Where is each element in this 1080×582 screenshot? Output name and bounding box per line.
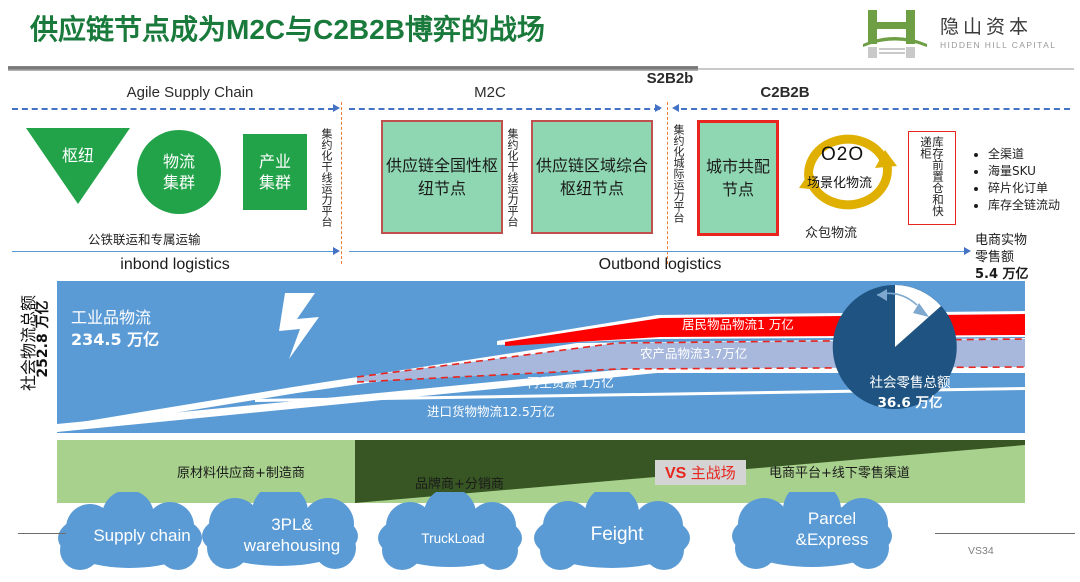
cloud-label-3pl-line-1: 3PL& — [222, 514, 362, 535]
hidden-hill-h-icon — [862, 8, 928, 60]
cloud-label-freight: Feight — [562, 524, 672, 545]
vs-main-battlefield-badge: VS 主战场 — [655, 460, 746, 485]
vs-text: 主战场 — [691, 464, 736, 482]
footer-rule-left — [18, 533, 66, 534]
cloud-label-parcel: Parcel &Express — [762, 508, 902, 550]
timeline-arrow-c2b2b-left — [672, 104, 679, 112]
axis-label-line-2: 252.8 万亿 — [32, 264, 52, 414]
pie-label-line-2: 36.6 万亿 — [840, 393, 980, 413]
chart-y-axis-label: 社会物流总额 252.8 万亿 — [2, 281, 50, 433]
inbound-flow-arrow — [333, 247, 340, 255]
phase-divider-2 — [667, 102, 668, 264]
cloud-label-3pl: 3PL& warehousing — [222, 514, 362, 556]
node-national-hub[interactable]: 供应链全国性枢纽节点 — [381, 120, 503, 234]
logistics-cluster-label-2: 集群 — [163, 172, 195, 193]
node-city-joint-distribution[interactable]: 城市共配节点 — [697, 120, 779, 236]
inbound-flow-label: inbond logistics — [50, 256, 300, 274]
phase-label-agile-supply-chain: Agile Supply Chain — [40, 84, 340, 101]
inventory-forward-label: 库存前置仓和快递柜 — [920, 136, 944, 220]
inventory-forward-box[interactable]: 库存前置仓和快递柜 — [908, 131, 956, 225]
phase-label-m2c: M2C — [390, 84, 590, 101]
logistics-volume-chart: 工业品物流 234.5 万亿 居民物品物流1 万亿 农产品物流3.7万亿 再生资… — [57, 281, 1025, 433]
pie-label-line-1: 社会零售总额 — [840, 373, 980, 393]
timeline-seg-m2c — [349, 108, 660, 110]
timeline-arrow-m2c — [655, 104, 662, 112]
outbound-flow-line — [349, 251, 966, 252]
tier-label-right: 电商平台+线下零售渠道 — [769, 462, 910, 481]
pie-label: 社会零售总额 36.6 万亿 — [840, 373, 980, 413]
hub-triangle-label: 枢纽 — [26, 142, 130, 166]
cloud-label-supply-chain: Supply chain — [82, 525, 202, 546]
series-label-industrial: 工业品物流 234.5 万亿 — [71, 307, 159, 351]
series-label-recycled-resources: 再生资源 1万亿 — [527, 372, 614, 391]
bullet-fragmented-orders: 碎片化订单 — [988, 180, 1080, 197]
outbound-flow-arrow — [964, 247, 971, 255]
connector-intercity-platform: 集约化城际运力平台 — [672, 124, 684, 246]
node-regional-hub-label: 供应链区域综合枢纽节点 — [533, 154, 651, 200]
o2o-sub-label: 场景化物流 — [807, 172, 872, 191]
timeline-seg-c2b2b — [681, 108, 1070, 110]
logo-name-cn: 隐山资本 — [940, 12, 1032, 39]
o2o-circular-arrows-icon — [793, 128, 903, 214]
page-title: 供应链节点成为M2C与C2B2B博弈的战场 — [30, 8, 750, 52]
tier-label-left: 原材料供应商+制造商 — [177, 462, 305, 481]
timeline-seg-agile — [12, 108, 334, 110]
timeline-arrow-agile — [333, 104, 340, 112]
industry-cluster-square: 产业 集群 — [243, 134, 307, 210]
ecommerce-retail-endcap: 电商实物 零售额 5.4 万亿 — [975, 232, 1075, 283]
bullet-full-chain-inventory: 库存全链流动 — [988, 197, 1080, 214]
bullet-massive-sku: 海量SKU — [988, 163, 1080, 180]
node-city-joint-distribution-label: 城市共配节点 — [700, 155, 776, 201]
feature-bullet-list: 全渠道 海量SKU 碎片化订单 库存全链流动 — [974, 146, 1080, 214]
phase-label-s2b2b: S2B2b — [625, 70, 715, 87]
node-regional-hub[interactable]: 供应链区域综合枢纽节点 — [531, 120, 653, 234]
vs-prefix: VS — [665, 465, 686, 482]
cloud-label-3pl-line-2: warehousing — [222, 535, 362, 556]
connector-trunk-platform-2: 集约化干线运力平台 — [506, 128, 518, 246]
o2o-below-label: 众包物流 — [805, 222, 857, 241]
inbound-flow-line — [12, 251, 334, 252]
logo-name-en: HIDDEN HILL CAPITAL — [940, 40, 1056, 50]
triangle-icon — [26, 128, 130, 204]
series-label-agricultural: 农产品物流3.7万亿 — [640, 343, 747, 362]
series-industrial-line-1: 工业品物流 — [71, 307, 159, 329]
o2o-cycle: O2O 场景化物流 — [793, 128, 903, 214]
header-divider — [8, 66, 698, 71]
industry-cluster-label-1: 产业 — [259, 151, 291, 172]
series-industrial-line-2: 234.5 万亿 — [71, 329, 159, 351]
logistics-cluster-circle: 物流 集群 — [137, 130, 221, 214]
hub-triangle-shape: 枢纽 — [26, 128, 130, 204]
logistics-cluster-label-1: 物流 — [163, 151, 195, 172]
phase-divider-1 — [341, 102, 342, 264]
endcap-line-2: 零售额 — [975, 249, 1075, 266]
series-label-resident-goods: 居民物品物流1 万亿 — [682, 314, 794, 333]
cloud-label-parcel-line-1: Parcel — [762, 508, 902, 529]
footer-rule-right — [935, 533, 1075, 534]
tier-label-middle: 品牌商+分销商 — [415, 473, 504, 492]
endcap-line-1: 电商实物 — [975, 232, 1075, 249]
cloud-label-parcel-line-2: &Express — [762, 529, 902, 550]
cloud-label-truckload: TruckLoad — [398, 528, 508, 549]
connector-trunk-platform-1: 集约化干线运力平台 — [320, 128, 332, 246]
series-label-imported-goods: 进口货物物流12.5万亿 — [427, 401, 555, 420]
slide-code: VS34 — [968, 545, 994, 557]
o2o-label: O2O — [821, 144, 864, 166]
header-divider-thin — [698, 68, 1074, 70]
brand-logo: 隐山资本 HIDDEN HILL CAPITAL — [862, 6, 1072, 62]
bullet-omnichannel: 全渠道 — [988, 146, 1080, 163]
industry-cluster-label-2: 集群 — [259, 172, 291, 193]
inbound-caption: 公铁联运和专属运输 — [88, 229, 201, 248]
phase-label-c2b2b: C2B2B — [720, 84, 850, 101]
outbound-flow-label: Outbond logistics — [540, 256, 780, 274]
node-national-hub-label: 供应链全国性枢纽节点 — [383, 154, 501, 200]
